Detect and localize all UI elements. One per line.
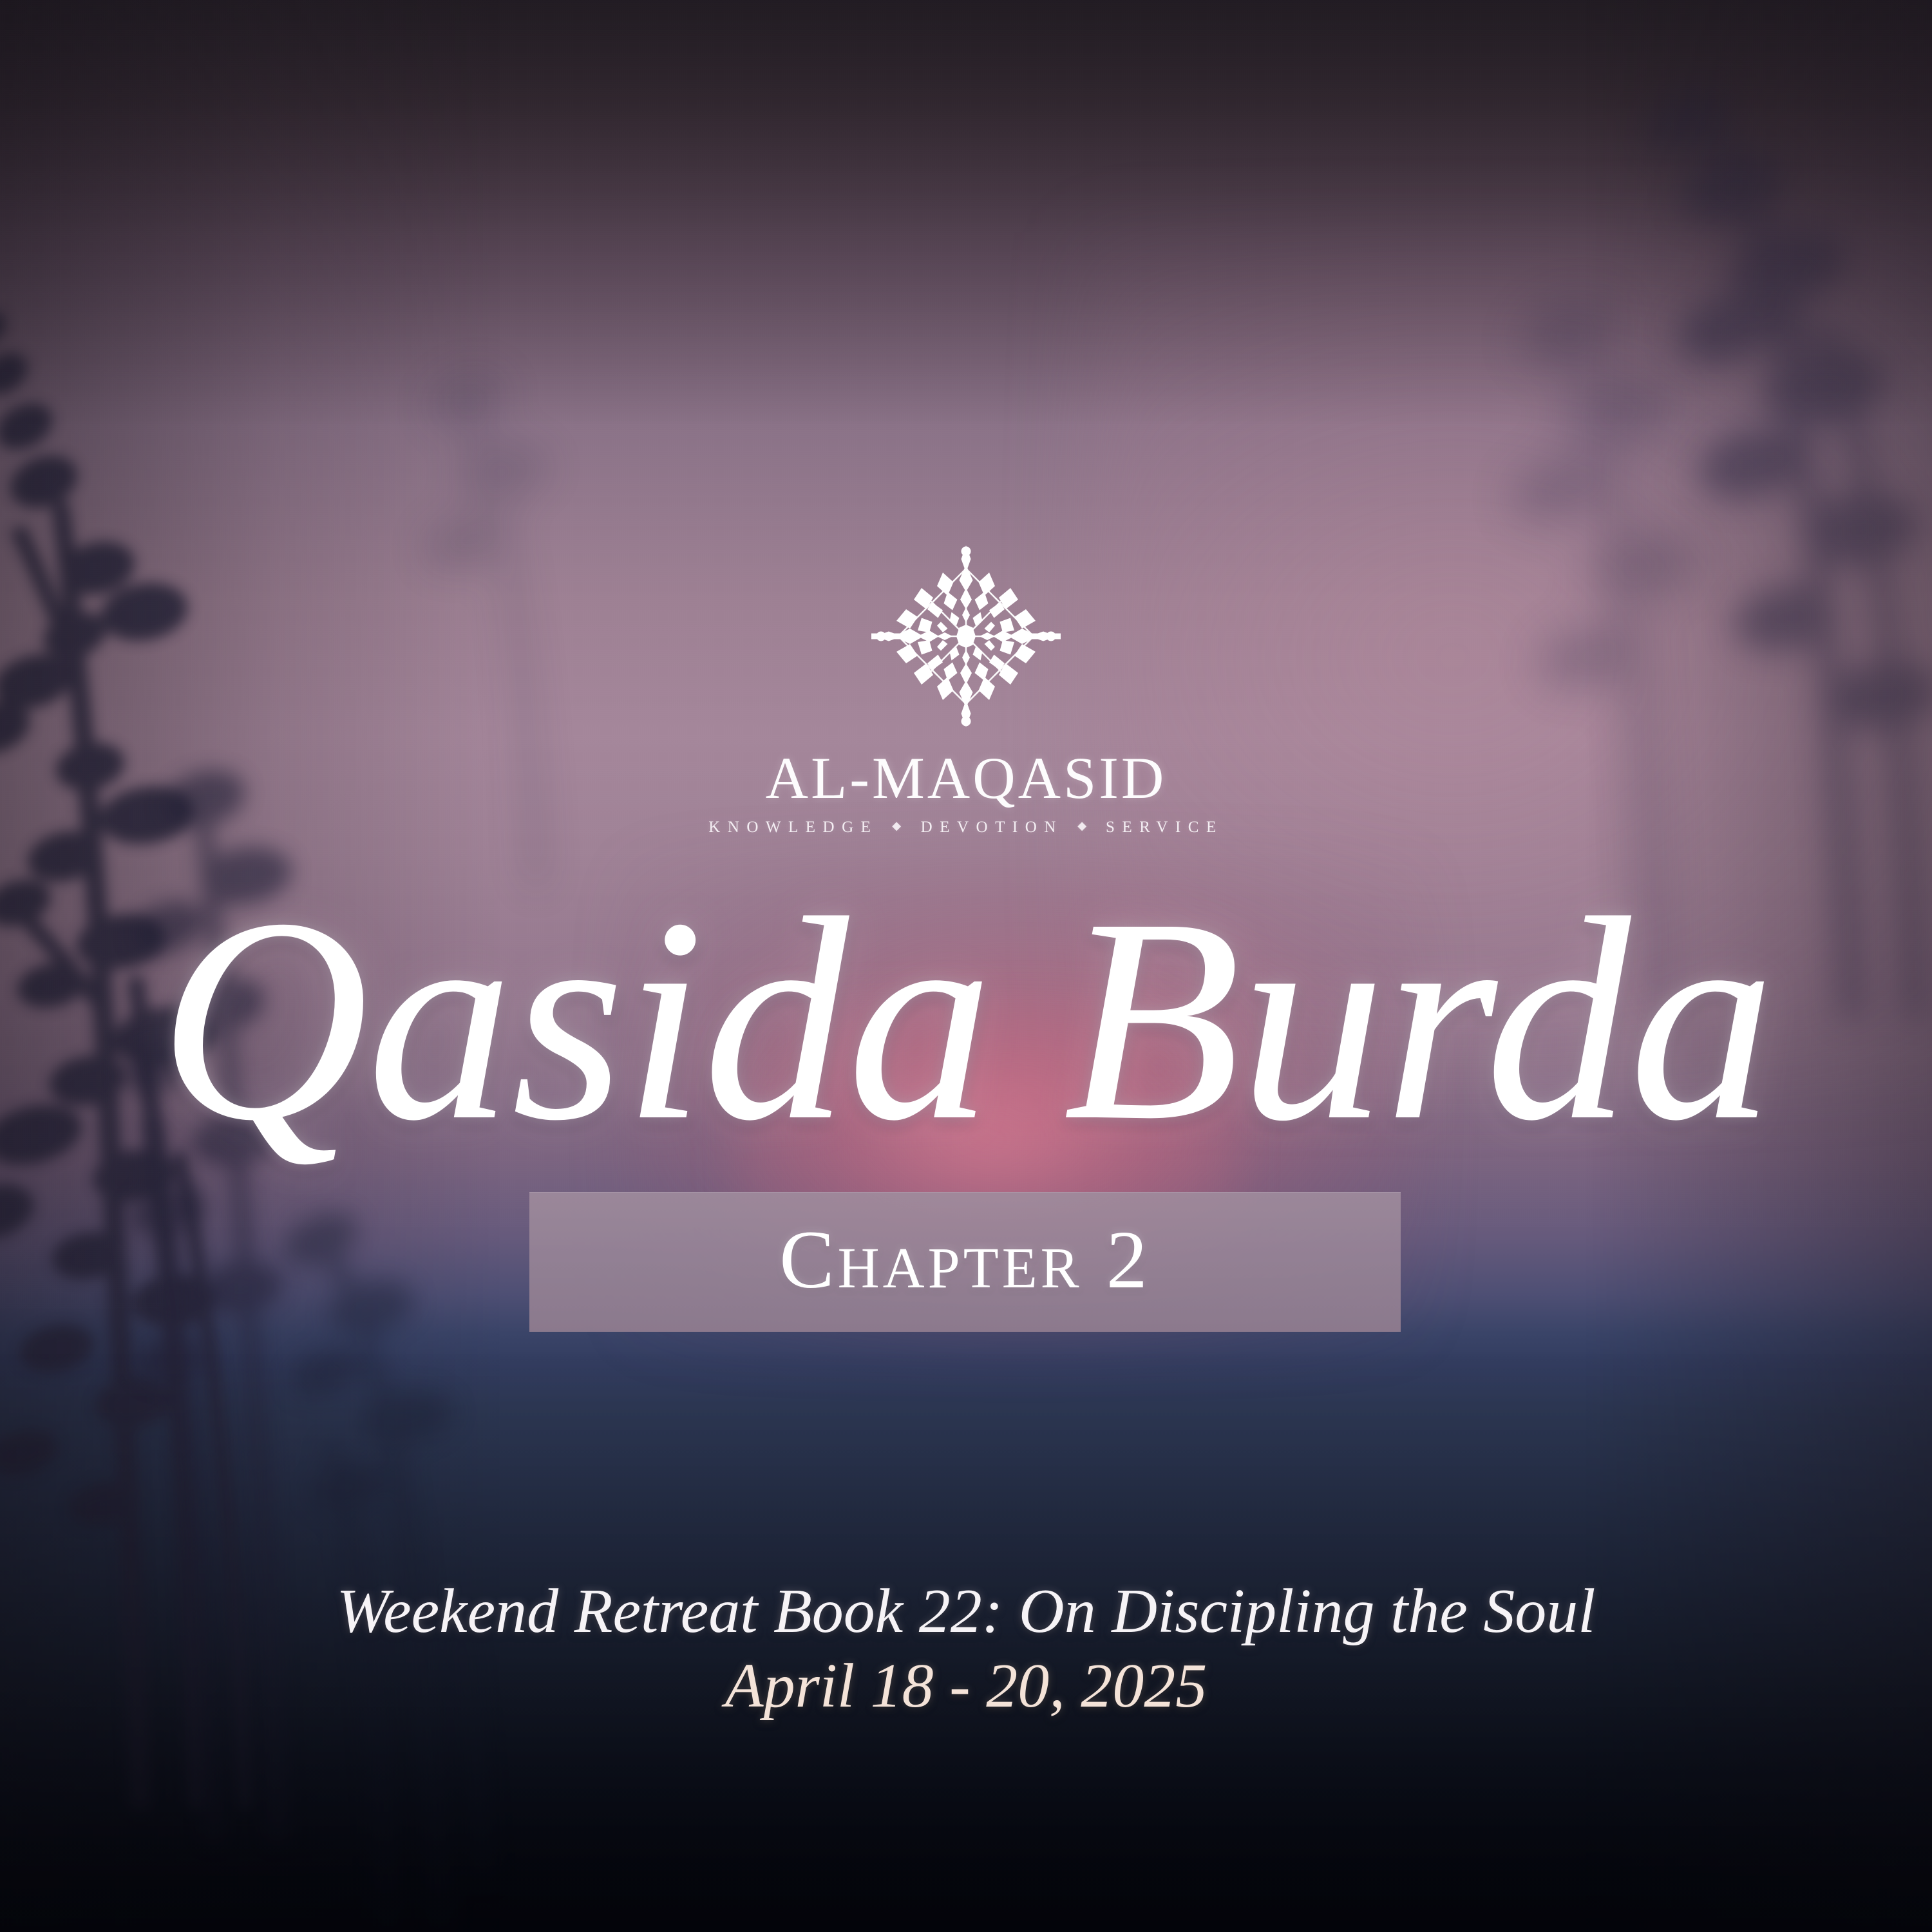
page-title: Qasida Burda: [0, 877, 1932, 1162]
tagline-word-service: SERVICE: [1106, 819, 1224, 836]
brand-tagline: KNOWLEDGE ◆ DEVOTION ◆ SERVICE: [708, 819, 1223, 835]
brand-wordmark: AL-MAQASID: [766, 748, 1167, 808]
footer-block: Weekend Retreat Book 22: On Discipling t…: [0, 1577, 1932, 1722]
retreat-date-range: April 18 - 20, 2025: [0, 1651, 1932, 1722]
diamond-separator-icon-2: ◆: [1077, 820, 1092, 832]
tagline-word-knowledge: KNOWLEDGE: [708, 819, 878, 836]
chapter-badge-band: Chapter 2: [529, 1192, 1401, 1332]
retreat-subtitle: Weekend Retreat Book 22: On Discipling t…: [0, 1577, 1932, 1647]
tagline-word-devotion: DEVOTION: [921, 819, 1063, 836]
diamond-separator-icon: ◆: [892, 820, 906, 832]
islamic-geometric-diamond-rosette-icon: [869, 540, 1063, 733]
chapter-label: Chapter 2: [779, 1218, 1150, 1301]
poster-canvas: AL-MAQASID KNOWLEDGE ◆ DEVOTION ◆ SERVIC…: [0, 0, 1932, 1932]
brand-logo-block: AL-MAQASID KNOWLEDGE ◆ DEVOTION ◆ SERVIC…: [0, 540, 1932, 835]
